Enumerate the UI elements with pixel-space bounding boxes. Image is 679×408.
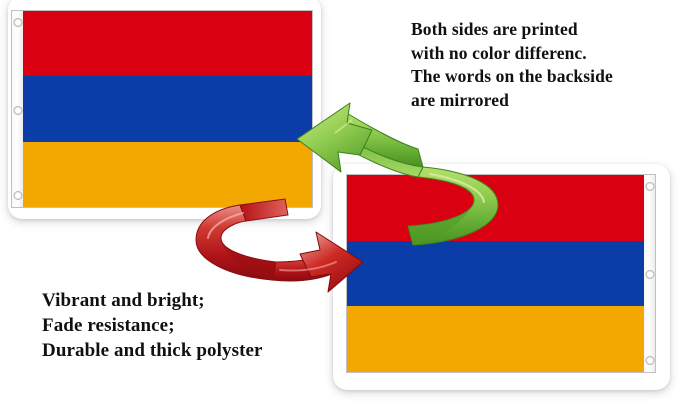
grommet-icon bbox=[13, 18, 22, 27]
grommet-icon bbox=[645, 182, 654, 191]
armenia-flag-front bbox=[12, 11, 312, 207]
stripe-red bbox=[23, 11, 312, 76]
stripe-red bbox=[347, 175, 644, 241]
armenia-flag-back bbox=[347, 175, 655, 372]
grommet-icon bbox=[13, 191, 22, 200]
grommet-icon bbox=[645, 270, 654, 279]
stripe-orange bbox=[347, 306, 644, 372]
caption-both-sides-printed: Both sides are printed with no color dif… bbox=[411, 18, 613, 112]
flag-back-hoist-band bbox=[644, 175, 655, 372]
flag-back-stripes bbox=[347, 175, 644, 372]
stripe-orange bbox=[23, 142, 312, 207]
flag-front-stripes bbox=[23, 11, 312, 207]
grommet-icon bbox=[13, 106, 22, 115]
stripe-blue bbox=[23, 76, 312, 141]
stripe-blue bbox=[347, 241, 644, 307]
product-image-canvas: Both sides are printed with no color dif… bbox=[0, 0, 679, 408]
caption-vibrant-durable: Vibrant and bright; Fade resistance; Dur… bbox=[42, 288, 263, 363]
grommet-icon bbox=[645, 356, 654, 365]
flag-front-hoist-band bbox=[12, 11, 23, 207]
